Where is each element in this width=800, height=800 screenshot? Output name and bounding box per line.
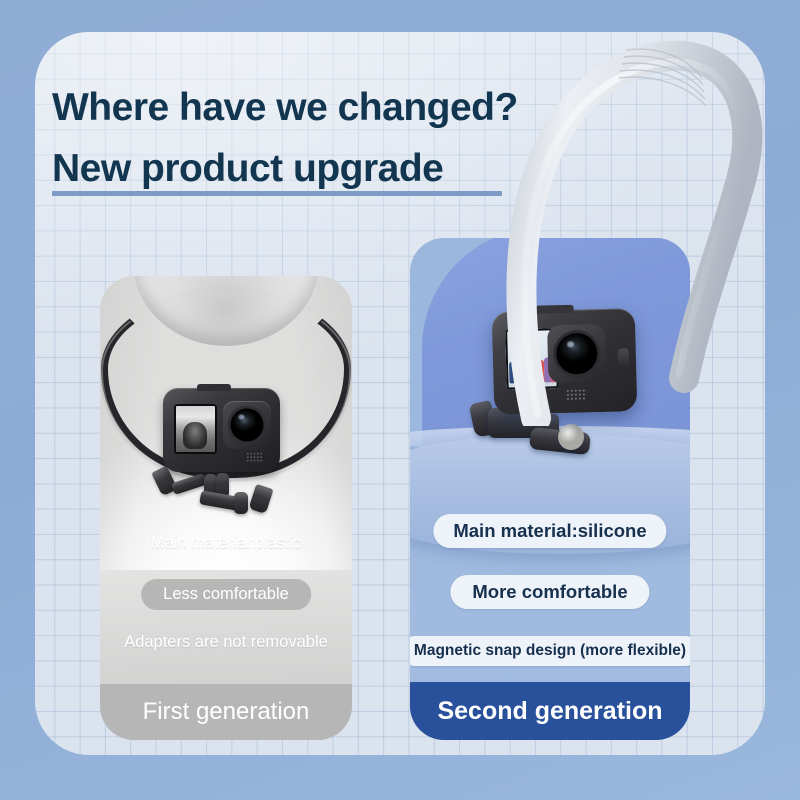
headline-subtitle: New product upgrade bbox=[52, 149, 443, 190]
left-feature-adapters: Adapters are not removable bbox=[100, 633, 352, 652]
second-generation-label: Second generation bbox=[410, 682, 690, 740]
camera-lens-housing bbox=[547, 324, 606, 383]
second-generation-panel[interactable]: Main material:silicone More comfortable … bbox=[410, 238, 690, 740]
headline-question: Where have we changed? bbox=[52, 88, 612, 129]
action-camera-second-gen bbox=[492, 308, 638, 415]
camera-top-nub bbox=[536, 305, 574, 314]
right-feature-comfort: More comfortable bbox=[450, 575, 649, 609]
camera-lens bbox=[231, 409, 264, 442]
camera-lens-housing bbox=[223, 401, 271, 449]
infographic-canvas: Where have we changed? New product upgra… bbox=[0, 0, 800, 800]
non-removable-adapters bbox=[148, 466, 308, 528]
camera-front-screen bbox=[174, 404, 217, 454]
left-feature-comfort: Less comfortable bbox=[141, 579, 311, 610]
right-feature-magnetic: Magnetic snap design (more flexible) bbox=[410, 636, 690, 666]
first-generation-label: First generation bbox=[100, 684, 352, 740]
headline-underline bbox=[52, 191, 502, 196]
right-feature-material: Main material:silicone bbox=[433, 514, 666, 548]
first-generation-panel[interactable]: Main material:plastic Less comfortable A… bbox=[100, 276, 352, 740]
camera-speaker-grille bbox=[246, 452, 263, 463]
camera-side-button bbox=[618, 348, 629, 366]
headline-block: Where have we changed? New product upgra… bbox=[52, 88, 612, 196]
left-feature-material: Main material:plastic bbox=[100, 534, 352, 553]
action-camera-first-gen bbox=[163, 388, 280, 472]
camera-speaker-grille bbox=[566, 388, 587, 402]
camera-lens bbox=[556, 333, 598, 375]
camera-top-nub bbox=[197, 384, 231, 391]
